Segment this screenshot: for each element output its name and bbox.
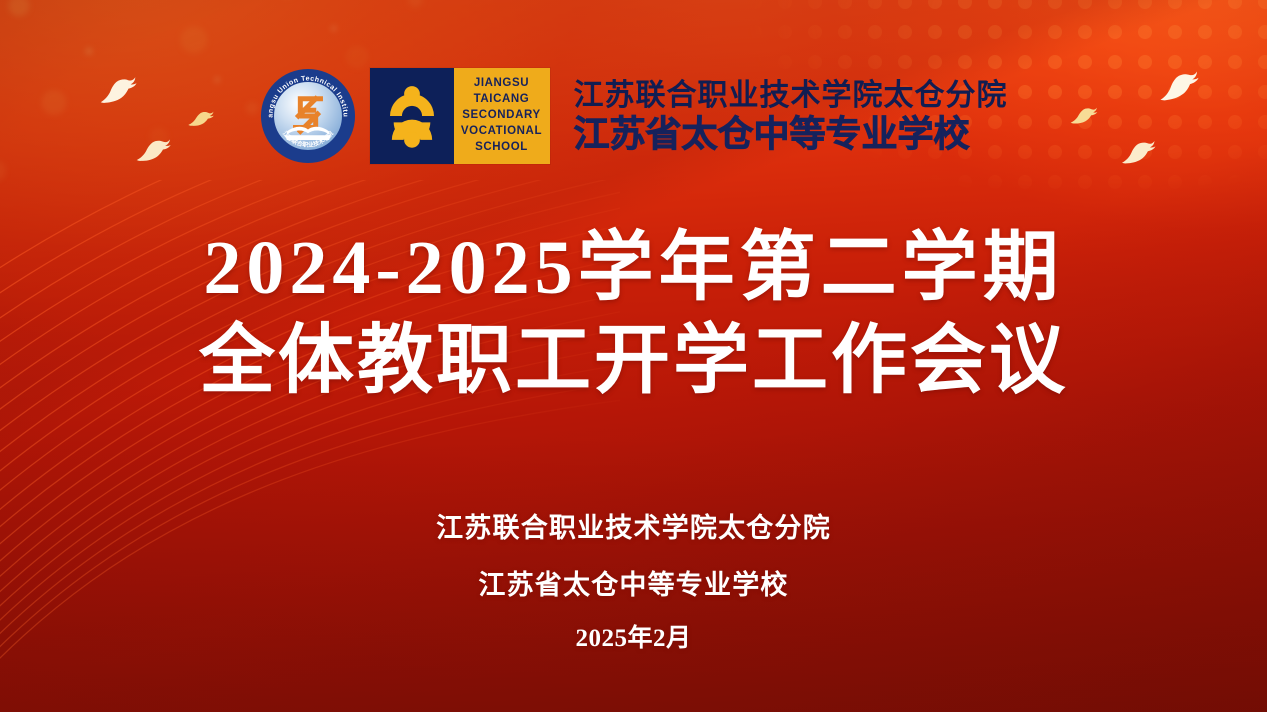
shield-word-1: JIANGSU [474,76,529,92]
subtitle-date: 2025年2月 [0,613,1267,666]
school-name-line2: 江苏省太仓中等专业学校 [574,113,1008,154]
school-shield-logo: JIANGSU TAICANG SECONDARY VOCATIONAL SCH… [370,68,550,164]
title-slide: Jiangsu Union Technical Institute 江苏联合职业… [0,0,1267,712]
school-name-line1: 江苏联合职业技术学院太仓分院 [574,78,1008,113]
page-title: 2024-2025学年第二学期 全体教职工开学工作会议 [0,222,1267,407]
shield-word-2: TAICANG [474,92,530,108]
shield-word-5: SCHOOL [475,140,528,156]
subtitle-block: 江苏联合职业技术学院太仓分院 江苏省太仓中等专业学校 2025年2月 [0,500,1267,666]
subtitle-line-1: 江苏联合职业技术学院太仓分院 [0,500,1267,557]
logo-bar: Jiangsu Union Technical Institute 江苏联合职业… [0,60,1267,172]
subtitle-line-2: 江苏省太仓中等专业学校 [0,557,1267,614]
circular-school-crest-icon: Jiangsu Union Technical Institute 江苏联合职业… [260,68,356,164]
abstract-figure-logo-icon [370,68,454,164]
shield-wordmark: JIANGSU TAICANG SECONDARY VOCATIONAL SCH… [454,68,550,164]
title-line-2: 全体教职工开学工作会议 [0,315,1267,408]
school-name-block: 江苏联合职业技术学院太仓分院 江苏省太仓中等专业学校 [574,78,1008,155]
shield-word-3: SECONDARY [462,108,540,124]
title-line-1: 2024-2025学年第二学期 [0,222,1267,315]
shield-word-4: VOCATIONAL [461,124,542,140]
